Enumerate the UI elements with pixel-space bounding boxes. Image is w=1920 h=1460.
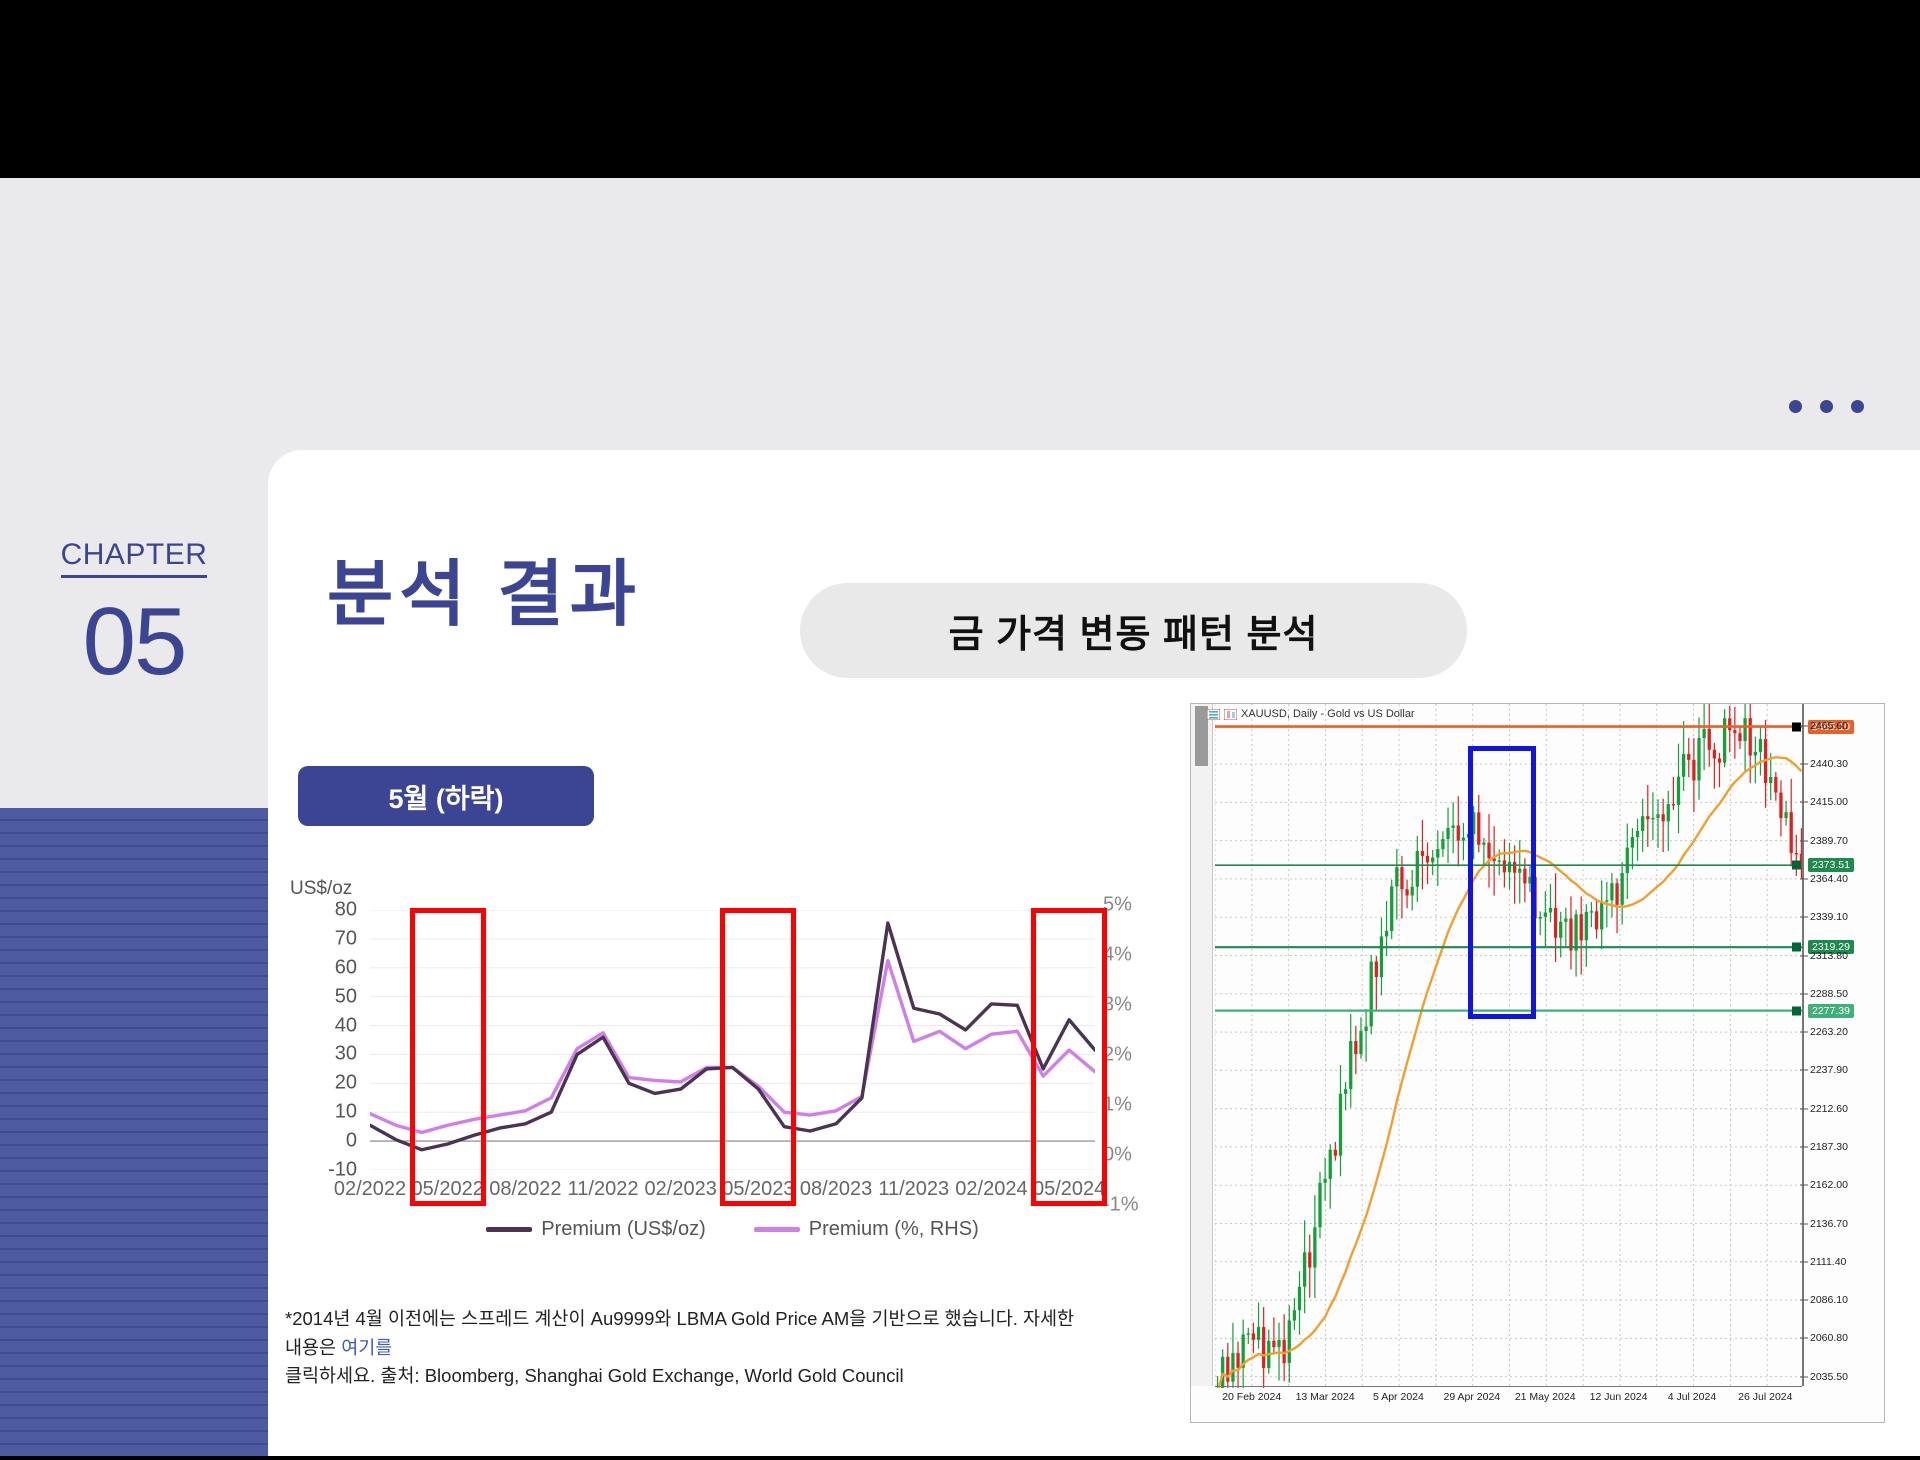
candle-17 xyxy=(1303,1252,1306,1286)
dot-2 xyxy=(1820,400,1833,413)
candle-43 xyxy=(1436,849,1439,857)
price-tick-mark xyxy=(1800,1185,1808,1186)
price-label-2288.50: 2288.50 xyxy=(1810,988,1848,1000)
candle-29 xyxy=(1364,1026,1367,1031)
y-tick-40: 40 xyxy=(335,1014,357,1037)
price-label-2060.80: 2060.80 xyxy=(1810,1332,1848,1344)
date-axis[interactable]: 20 Feb 202413 Mar 20245 Apr 202429 Apr 2… xyxy=(1215,1386,1802,1422)
candle-87 xyxy=(1662,814,1665,821)
price-tick-mark xyxy=(1800,802,1808,803)
premium-line-chart: US$/oz 80706050403020100-10 5%4%3%2%1%0%… xyxy=(285,878,1165,1298)
date-label-0: 20 Feb 2024 xyxy=(1222,1391,1281,1403)
candle-22 xyxy=(1329,1150,1332,1179)
candle-plot-area xyxy=(1215,704,1802,1386)
candle-77 xyxy=(1610,883,1613,900)
price-axis[interactable]: 2465.102465.602440.302415.002389.702373.… xyxy=(1802,704,1884,1386)
candle-109 xyxy=(1774,777,1777,793)
vertical-scrollbar[interactable] xyxy=(1191,704,1213,1386)
candle-79 xyxy=(1621,873,1624,905)
x-tick-02/2022: 02/2022 xyxy=(334,1178,406,1201)
date-label-7: 26 Jul 2024 xyxy=(1738,1391,1792,1403)
candle-81 xyxy=(1631,837,1634,848)
legend-item-premium-usd: Premium (US$/oz) xyxy=(486,1218,705,1241)
candle-39 xyxy=(1416,851,1419,887)
y-tick-80: 80 xyxy=(335,899,357,922)
candle-70 xyxy=(1574,914,1577,950)
price-tick-mark xyxy=(1800,1032,1808,1033)
candle-66 xyxy=(1554,908,1557,938)
price-tick-mark xyxy=(1800,1223,1808,1224)
price-tick-mark xyxy=(1800,878,1808,879)
candle-16 xyxy=(1298,1287,1301,1310)
right-y-tick-6: -1% xyxy=(1103,1194,1139,1217)
right-y-axis-tick-labels: 5%4%3%2%1%0%-1% xyxy=(1097,910,1167,1170)
striped-decoration xyxy=(0,808,268,1456)
highlight-region-box xyxy=(1468,746,1536,1018)
right-y-tick-3: 2% xyxy=(1103,1044,1132,1067)
candle-96 xyxy=(1708,729,1711,750)
price-tick-mark xyxy=(1800,993,1808,994)
price-label-2440.30: 2440.30 xyxy=(1810,758,1848,770)
candle-27 xyxy=(1354,1041,1357,1054)
price-tick-mark xyxy=(1800,1338,1808,1339)
x-axis-tick-labels: 02/202205/202208/202211/202202/202305/20… xyxy=(370,1178,1095,1208)
candle-7 xyxy=(1252,1333,1255,1340)
candle-78 xyxy=(1615,883,1618,905)
candle-65 xyxy=(1549,908,1552,913)
candle-110 xyxy=(1779,793,1782,819)
candle-74 xyxy=(1595,911,1598,929)
candle-21 xyxy=(1323,1179,1326,1183)
y-axis-unit-label: US$/oz xyxy=(290,878,352,900)
candle-68 xyxy=(1564,919,1567,922)
candle-64 xyxy=(1544,912,1547,916)
footnote-link[interactable]: 여기를 xyxy=(341,1337,392,1358)
x-tick-11/2022: 11/2022 xyxy=(568,1178,639,1201)
price-tick-mark xyxy=(1800,1376,1808,1377)
date-label-2: 5 Apr 2024 xyxy=(1373,1391,1424,1403)
x-tick-02/2023: 02/2023 xyxy=(645,1178,717,1201)
y-tick-50: 50 xyxy=(335,985,357,1008)
price-tick-mark xyxy=(1800,917,1808,918)
price-label-2162.00: 2162.00 xyxy=(1810,1179,1848,1191)
month-badge[interactable]: 5월 (하락) xyxy=(298,766,594,826)
footnote-line-2: 클릭하세요. 출처: Bloomberg, Shanghai Gold Exch… xyxy=(285,1365,904,1386)
price-label-2111.40: 2111.40 xyxy=(1810,1256,1846,1268)
chart-type-icon xyxy=(1207,709,1220,720)
price-label-2187.30: 2187.30 xyxy=(1810,1141,1848,1153)
subtitle-text: 금 가격 변동 패턴 분석 xyxy=(949,603,1319,658)
candle-4 xyxy=(1236,1353,1239,1368)
date-label-3: 29 Apr 2024 xyxy=(1443,1391,1500,1403)
candle-36 xyxy=(1400,867,1403,889)
candle-90 xyxy=(1677,777,1680,805)
price-marker xyxy=(1792,861,1801,870)
price-label-2237.90: 2237.90 xyxy=(1810,1064,1848,1076)
slide-canvas: CHAPTER 05 분석 결과 금 가격 변동 패턴 분석 5월 (하락) U… xyxy=(0,178,1920,1278)
price-tick-mark xyxy=(1800,1261,1808,1262)
chapter-block: CHAPTER 05 xyxy=(0,538,268,693)
candle-icon xyxy=(1224,709,1237,720)
candle-45 xyxy=(1446,828,1449,839)
candle-48 xyxy=(1462,838,1465,841)
x-tick-05/2023: 05/2023 xyxy=(722,1178,794,1201)
candle-88 xyxy=(1667,804,1670,821)
legend-item-premium-pct: Premium (%, RHS) xyxy=(754,1218,979,1241)
candle-34 xyxy=(1390,886,1393,931)
candle-26 xyxy=(1349,1041,1352,1089)
candle-31 xyxy=(1375,962,1378,977)
legend-label-premium-pct: Premium (%, RHS) xyxy=(809,1218,979,1241)
date-label-6: 4 Jul 2024 xyxy=(1668,1391,1716,1403)
candle-69 xyxy=(1569,919,1572,951)
candle-83 xyxy=(1641,816,1644,831)
candle-15 xyxy=(1293,1310,1296,1320)
price-label-2364.40: 2364.40 xyxy=(1810,873,1848,885)
y-tick-70: 70 xyxy=(335,927,357,950)
y-tick-20: 20 xyxy=(335,1072,357,1095)
candle-95 xyxy=(1702,729,1705,738)
price-label-2389.70: 2389.70 xyxy=(1810,835,1848,847)
candle-99 xyxy=(1723,718,1726,762)
right-y-tick-5: 0% xyxy=(1103,1144,1132,1167)
line-chart-legend: Premium (US$/oz) Premium (%, RHS) xyxy=(370,1218,1095,1241)
candle-6 xyxy=(1247,1333,1250,1334)
date-label-5: 12 Jun 2024 xyxy=(1590,1391,1648,1403)
chapter-label: CHAPTER xyxy=(61,538,208,578)
price-label-2212.60: 2212.60 xyxy=(1810,1103,1848,1115)
month-badge-label: 5월 (하락) xyxy=(388,777,503,816)
candle-86 xyxy=(1656,814,1659,818)
price-tick-mark xyxy=(1800,1300,1808,1301)
price-tick-mark xyxy=(1800,840,1808,841)
price-label-2086.10: 2086.10 xyxy=(1810,1294,1848,1306)
y-tick-30: 30 xyxy=(335,1043,357,1066)
candle-19 xyxy=(1313,1227,1316,1267)
dot-1 xyxy=(1789,400,1802,413)
price-marker xyxy=(1792,943,1801,952)
right-y-tick-2: 3% xyxy=(1103,994,1132,1017)
price-tick-mark xyxy=(1800,1070,1808,1071)
y-tick-10: 10 xyxy=(335,1101,357,1124)
candle-9 xyxy=(1262,1327,1265,1368)
candle-35 xyxy=(1395,867,1398,886)
price-label-2415.00: 2415.00 xyxy=(1810,796,1848,808)
price-label-2313.80: 2313.80 xyxy=(1810,950,1848,962)
date-label-4: 21 May 2024 xyxy=(1515,1391,1576,1403)
candle-85 xyxy=(1651,818,1654,819)
candle-97 xyxy=(1713,750,1716,759)
candle-12 xyxy=(1277,1340,1280,1347)
candle-25 xyxy=(1344,1089,1347,1094)
right-y-tick-0: 5% xyxy=(1103,894,1132,917)
candle-chart-title: XAUUSD, Daily - Gold vs US Dollar xyxy=(1241,708,1415,720)
line-chart-svg xyxy=(370,910,1095,1170)
page-title: 분석 결과 xyxy=(327,535,642,640)
price-label-2339.10: 2339.10 xyxy=(1810,911,1848,923)
price-label-2035.50: 2035.50 xyxy=(1810,1371,1848,1383)
candle-30 xyxy=(1370,962,1373,1027)
y-tick-60: 60 xyxy=(335,956,357,979)
candle-106 xyxy=(1759,739,1762,752)
candle-113 xyxy=(1795,853,1798,854)
candle-20 xyxy=(1318,1183,1321,1228)
x-tick-08/2023: 08/2023 xyxy=(800,1178,872,1201)
x-tick-11/2023: 11/2023 xyxy=(878,1178,949,1201)
candle-102 xyxy=(1738,733,1741,741)
series-line-1 xyxy=(370,961,1095,1133)
candle-92 xyxy=(1687,754,1690,760)
candle-71 xyxy=(1580,914,1583,940)
price-tick-mark xyxy=(1800,764,1808,765)
y-tick-0: 0 xyxy=(346,1130,357,1153)
candle-24 xyxy=(1339,1094,1342,1156)
price-tick-mark xyxy=(1800,725,1808,726)
candle-38 xyxy=(1411,887,1414,896)
price-tick-mark xyxy=(1800,1146,1808,1147)
candle-37 xyxy=(1405,889,1408,895)
dot-3 xyxy=(1851,400,1864,413)
date-label-1: 13 Mar 2024 xyxy=(1296,1391,1355,1403)
candle-75 xyxy=(1600,901,1603,929)
price-label-2277.39: 2277.39 xyxy=(1808,1004,1854,1018)
price-label-2263.20: 2263.20 xyxy=(1810,1026,1848,1038)
candle-94 xyxy=(1697,738,1700,781)
candle-76 xyxy=(1605,900,1608,901)
candle-42 xyxy=(1431,858,1434,863)
candle-28 xyxy=(1359,1031,1362,1054)
candle-40 xyxy=(1421,851,1424,856)
price-tick-mark xyxy=(1800,955,1808,956)
price-marker xyxy=(1792,1006,1801,1015)
candle-32 xyxy=(1380,936,1383,977)
x-tick-05/2024: 05/2024 xyxy=(1033,1178,1105,1201)
right-y-tick-4: 1% xyxy=(1103,1094,1132,1117)
candle-82 xyxy=(1636,831,1639,837)
candle-47 xyxy=(1457,825,1460,840)
price-tick-mark xyxy=(1800,1108,1808,1109)
candle-101 xyxy=(1733,730,1736,733)
candle-80 xyxy=(1626,848,1629,873)
candle-72 xyxy=(1585,912,1588,940)
candle-112 xyxy=(1790,812,1793,853)
candle-8 xyxy=(1257,1327,1260,1340)
xauusd-candlestick-chart: XAUUSD, Daily - Gold vs US Dollar 2465.1… xyxy=(1190,703,1885,1423)
candle-41 xyxy=(1426,856,1429,862)
candle-3 xyxy=(1231,1353,1234,1382)
candle-91 xyxy=(1682,754,1685,777)
candle-11 xyxy=(1272,1341,1275,1347)
y-axis-tick-labels: 80706050403020100-10 xyxy=(285,910,363,1170)
x-tick-02/2024: 02/2024 xyxy=(955,1178,1027,1201)
x-tick-05/2022: 05/2022 xyxy=(412,1178,484,1201)
three-dots-icon[interactable] xyxy=(1789,400,1864,413)
candle-46 xyxy=(1452,825,1455,828)
candle-44 xyxy=(1441,839,1444,849)
candle-1 xyxy=(1221,1357,1224,1388)
price-label-2373.51: 2373.51 xyxy=(1808,858,1854,872)
price-label-2136.70: 2136.70 xyxy=(1810,1218,1848,1230)
subtitle-pill: 금 가격 변동 패턴 분석 xyxy=(800,583,1467,678)
slide-stage: CHAPTER 05 분석 결과 금 가격 변동 패턴 분석 5월 (하락) U… xyxy=(0,0,1920,1460)
footnote-line-1: *2014년 4월 이전에는 스프레드 계산이 Au9999와 LBMA Gol… xyxy=(285,1308,1074,1358)
candle-23 xyxy=(1334,1150,1337,1156)
right-y-tick-1: 4% xyxy=(1103,944,1132,967)
candle-93 xyxy=(1692,760,1695,780)
candle-111 xyxy=(1784,812,1787,818)
candle-67 xyxy=(1559,922,1562,938)
candle-63 xyxy=(1539,917,1542,919)
chart-footnote: *2014년 4월 이전에는 스프레드 계산이 Au9999와 LBMA Gol… xyxy=(285,1305,1095,1391)
x-tick-08/2022: 08/2022 xyxy=(489,1178,561,1201)
chapter-number: 05 xyxy=(0,592,268,693)
candle-84 xyxy=(1646,816,1649,819)
candle-14 xyxy=(1288,1321,1291,1364)
candle-98 xyxy=(1718,758,1721,762)
candle-105 xyxy=(1754,752,1757,756)
legend-swatch-premium-usd xyxy=(486,1227,532,1232)
candle-18 xyxy=(1308,1252,1311,1267)
line-chart-plot-area xyxy=(370,910,1095,1170)
candle-73 xyxy=(1590,911,1593,912)
candle-33 xyxy=(1385,931,1388,936)
legend-label-premium-usd: Premium (US$/oz) xyxy=(541,1218,705,1241)
candle-89 xyxy=(1672,804,1675,805)
candle-chart-header: XAUUSD, Daily - Gold vs US Dollar xyxy=(1191,704,1884,724)
candle-108 xyxy=(1769,777,1772,783)
legend-swatch-premium-pct xyxy=(754,1227,800,1232)
